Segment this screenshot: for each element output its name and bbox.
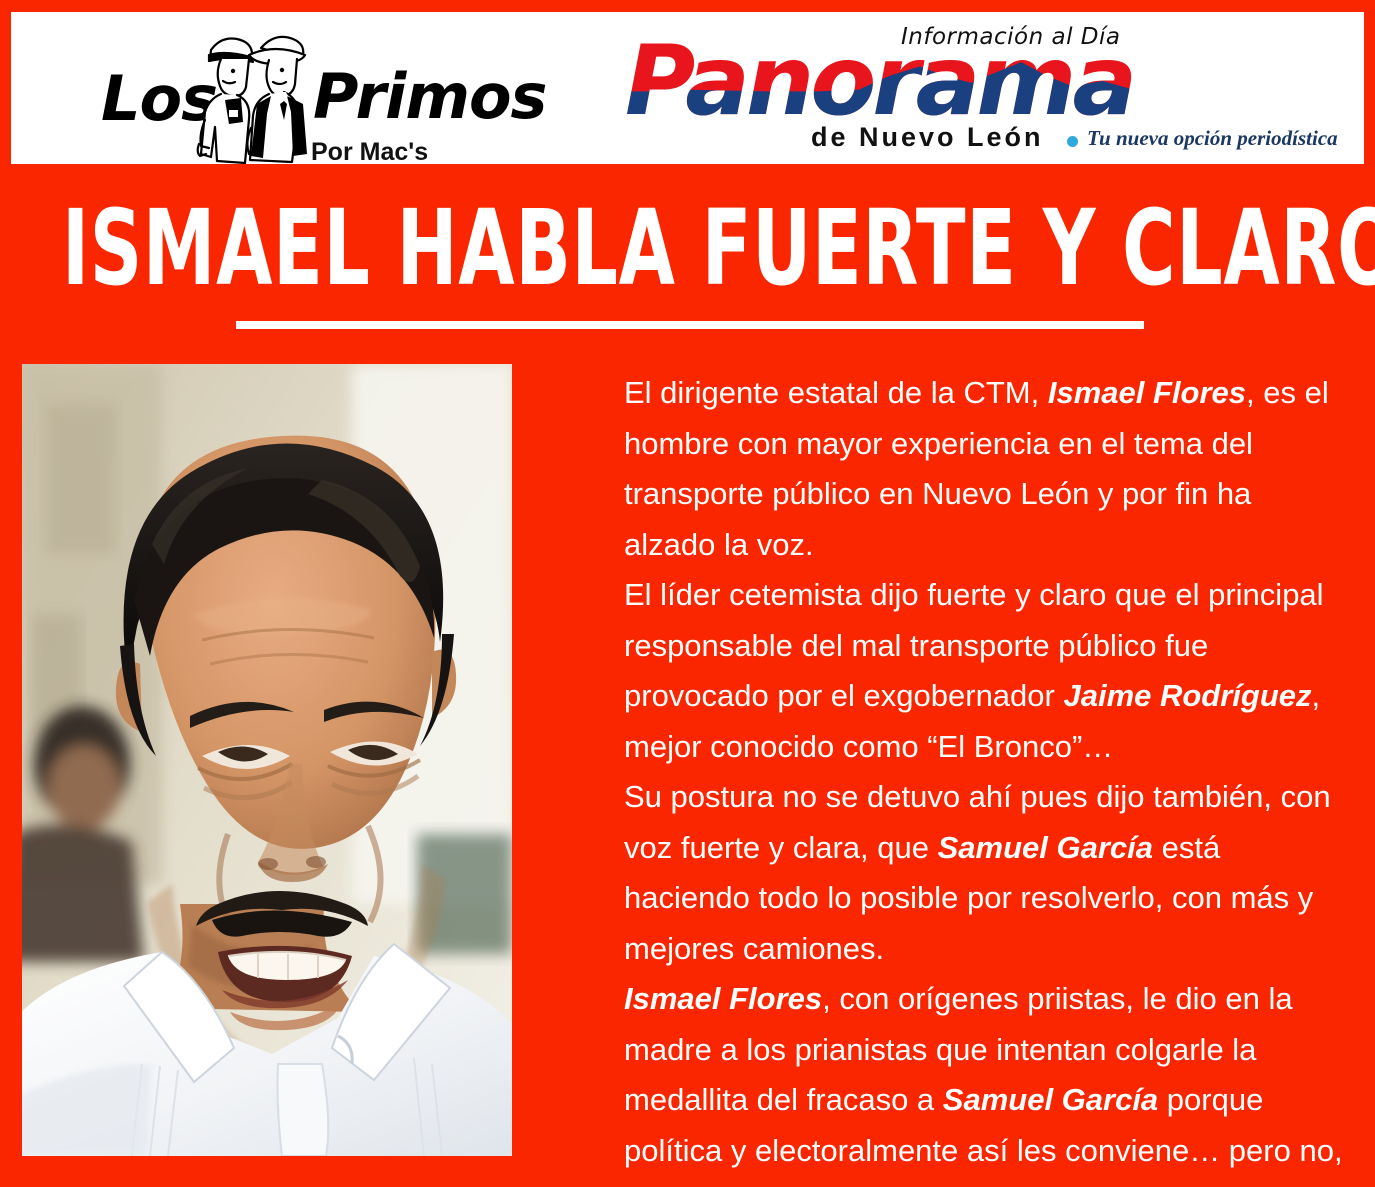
masthead-title: Panorama Panorama [625, 38, 1305, 124]
person-name: Ismael Flores [624, 981, 822, 1016]
headline-divider [236, 321, 1144, 329]
page-title: ISMAEL HABLA FUERTE Y CLARO... [62, 196, 1375, 300]
los-primos-word-primos: Primos [313, 60, 546, 133]
article-paragraph-3: Su postura no se detuvo ahí pues dijo ta… [624, 772, 1344, 974]
article-paragraph-1: El dirigente estatal de la CTM, Ismael F… [624, 368, 1344, 570]
los-primos-byline: Por Mac's [311, 138, 428, 164]
header-band: Los [11, 12, 1364, 164]
masthead-bullet-icon [1067, 136, 1078, 147]
los-primos-logo: Los [91, 20, 561, 160]
news-graphic-page: Los [0, 0, 1375, 1187]
panorama-masthead: Información al Día Panorama Panorama de … [611, 18, 1311, 163]
person-name: Ismael Flores [1048, 375, 1246, 410]
article-paragraph-2: El líder cetemista dijo fuerte y claro q… [624, 570, 1344, 772]
masthead-subtitle: de Nuevo León [811, 122, 1044, 153]
person-name: Ismael Flores [624, 1183, 822, 1187]
article-paragraph-4: Ismael Flores, con orígenes priistas, le… [624, 974, 1344, 1187]
run-text: El dirigente estatal de la CTM, [624, 375, 1048, 410]
portrait-photo [22, 364, 512, 1156]
article-body: El dirigente estatal de la CTM, Ismael F… [624, 368, 1344, 1187]
person-name: Samuel García [943, 1082, 1158, 1117]
person-name: Jaime Rodríguez [1063, 678, 1311, 713]
masthead-tagline: Tu nueva opción periodística [1087, 126, 1338, 151]
person-name: Samuel García [938, 830, 1153, 865]
